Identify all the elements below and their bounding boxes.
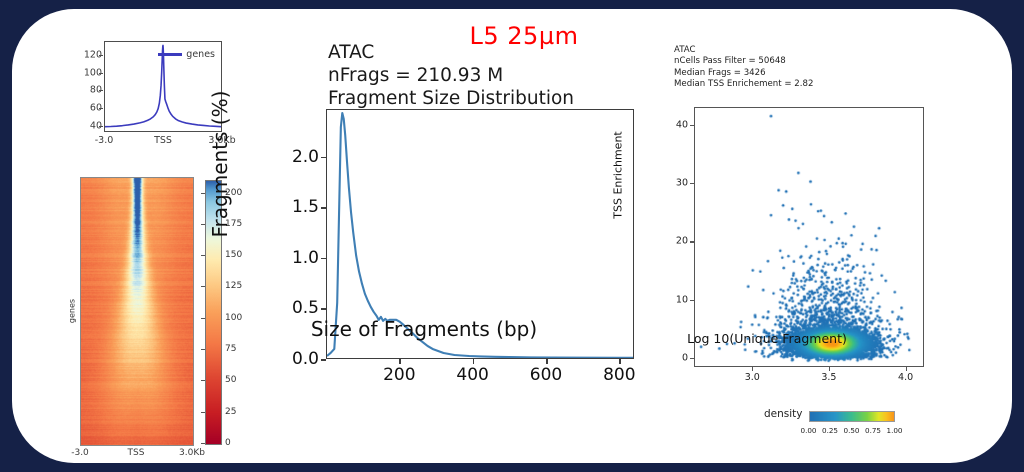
colorbar-tick-125: 125 [225,281,242,291]
fragment-size-ytick-1.0: 1.0 [292,248,319,268]
tss-profile-ymark-40 [99,126,103,127]
tss-scatter-plot: 0 10 20 30 40 3.0 3.5 4.0 [694,107,924,367]
tss-scatter-annotation: ATACnCells Pass Filter = 50648Median Fra… [674,45,813,90]
fragment-size-ytick-0.5: 0.5 [292,298,319,318]
fragment-size-ymark-0.5 [321,308,326,310]
colorbar-tick-50: 50 [225,375,236,385]
tss-scatter-ytick-30: 30 [676,177,688,188]
density-legend: density 0.000.250.500.751.00 [764,407,895,438]
tss-heatmap-xtick-0: -3.0 [71,448,89,458]
tss-heatmap-xtick-1: TSS [128,448,145,458]
fragment-size-ymark-0.0 [321,359,326,361]
tss-profile-xtick-0: -3.0 [95,135,114,146]
colorbar-mark-75 [201,349,205,350]
colorbar-mark-50 [201,380,205,381]
tss-scatter-xlabel: Log 10(Unique Fragment) [687,331,847,346]
fragment-size-title-line-2: Fragment Size Distribution [328,87,574,110]
colorbar-tick-150: 150 [225,250,242,260]
colorbar-mark-0 [201,443,205,444]
slide-card: L5 25µm genes 40 60 80 100 120 -3.0TSS3.… [12,9,1012,463]
tss-scatter-ylabel: TSS Enrichment [612,131,625,218]
density-tick-0.50: 0.50 [843,426,859,435]
tss-heatmap-ylabel: genes [68,298,77,322]
fragment-size-xmark-800 [619,359,621,364]
tss-scatter-xtick-3.5: 3.5 [821,372,836,383]
tss-scatter-panel: ATACnCells Pass Filter = 50648Median Fra… [652,45,942,435]
density-legend-gradient [809,411,895,422]
tss-profile-ymark-100 [99,73,103,74]
colorbar-tick-100: 100 [225,313,242,323]
tss-scatter-xtick-3.0: 3.0 [745,372,760,383]
colorbar-mark-200 [201,193,205,194]
fragment-size-ytick-2.0: 2.0 [292,147,319,167]
tss-scatter-ytick-40: 40 [676,119,688,130]
tss-heatmap-image [80,177,194,446]
legend-swatch-genes [158,53,182,55]
fragment-size-xtick-800: 800 [603,365,635,385]
tss-scatter-xmark-4.0 [906,367,907,371]
fragment-size-panel: ATACnFrags = 210.93 MFragment Size Distr… [270,39,640,409]
density-legend-ticklabels: 0.000.250.500.751.00 [809,426,895,438]
colorbar-mark-175 [201,224,205,225]
tss-profile-axes: genes [104,41,222,132]
tss-profile-chart: genes 40 60 80 100 120 -3.0TSS3.0Kb [74,39,224,154]
legend-label-genes: genes [186,49,215,60]
density-tick-1.00: 1.00 [886,426,902,435]
tss-scatter-ymark-20 [690,241,694,242]
colorbar-tick-0: 0 [225,438,231,448]
tss-heatmap-xtick-2: 3.0Kb [179,448,205,458]
tss-scatter-annotation-line-1: nCells Pass Filter = 50648 [674,56,813,67]
density-legend-bar-wrap: 0.000.250.500.751.00 [809,407,895,438]
colorbar-tick-75: 75 [225,344,236,354]
tss-scatter-ytick-10: 10 [676,294,688,305]
fragment-size-ymark-1.5 [321,207,326,209]
slide-root: L5 25µm genes 40 60 80 100 120 -3.0TSS3.… [0,0,1024,472]
fragment-size-xtick-400: 400 [456,365,488,385]
fragment-size-ytick-0.0: 0.0 [292,349,319,369]
fragment-size-ytick-1.5: 1.5 [292,197,319,217]
fragment-size-xmark-200 [399,359,401,364]
density-tick-0.00: 0.00 [800,426,816,435]
fragment-size-title-line-0: ATAC [328,41,574,64]
fragment-size-title-line-1: nFrags = 210.93 M [328,64,574,87]
tss-scatter-ymark-30 [690,183,694,184]
colorbar-mark-150 [201,255,205,256]
tss-scatter-ymark-0 [690,358,694,359]
colorbar-tick-25: 25 [225,407,236,417]
tss-scatter-axes [694,107,924,367]
tss-profile-legend: genes [158,49,215,60]
fragment-size-ymark-2.0 [321,157,326,159]
tss-scatter-annotation-line-0: ATAC [674,45,813,56]
fragment-size-xlabel: Size of Fragments (bp) [311,317,537,341]
fragment-size-xmark-600 [546,359,548,364]
tss-profile-ymark-60 [99,108,103,109]
tss-scatter-points [695,108,923,366]
fragment-size-xtick-600: 600 [530,365,562,385]
tss-scatter-ytick-0: 0 [682,353,688,364]
colorbar-mark-25 [201,412,205,413]
fragment-size-ymark-1.0 [321,258,326,260]
tss-scatter-xmark-3.5 [829,367,830,371]
density-tick-0.75: 0.75 [865,426,881,435]
colorbar-mark-125 [201,286,205,287]
fragment-size-ylabel: Fragments (%) [208,91,232,238]
colorbar-mark-100 [201,318,205,319]
tss-scatter-annotation-line-3: Median TSS Enrichement = 2.82 [674,79,813,90]
fragment-size-title: ATACnFrags = 210.93 MFragment Size Distr… [328,41,574,110]
tss-scatter-ymark-40 [690,125,694,126]
tss-scatter-xmark-3.0 [752,367,753,371]
tss-heatmap-chart: genes -3.0TSS3.0Kb gene distance (bp) [80,177,192,444]
fragment-size-xmark-400 [473,359,475,364]
tss-profile-ymark-80 [99,90,103,91]
tss-scatter-ytick-20: 20 [676,236,688,247]
density-tick-0.25: 0.25 [822,426,838,435]
tss-scatter-annotation-line-2: Median Frags = 3426 [674,68,813,79]
tss-profile-xtick-1: TSS [154,135,172,146]
fragment-size-xtick-200: 200 [383,365,415,385]
tss-scatter-ymark-10 [690,300,694,301]
tss-scatter-xtick-4.0: 4.0 [898,372,913,383]
tss-profile-ymark-120 [99,55,103,56]
density-legend-label: density [764,407,803,420]
